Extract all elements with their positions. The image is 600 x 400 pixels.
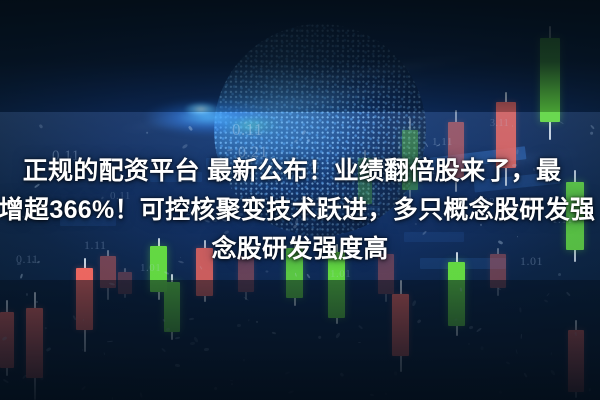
banner-image: 0.110.110.211.113.110.121.111.010.111.01… <box>0 0 600 400</box>
headline-line-3: 念股研发强度高 <box>0 230 600 269</box>
headline-text-block: 正规的配资平台 最新公布！业绩翻倍股来了，最 增超366%！可控核聚变技术跃进，… <box>0 152 600 269</box>
top-dark-overlay-band <box>0 0 600 112</box>
headline-line-1: 正规的配资平台 最新公布！业绩翻倍股来了，最 <box>0 152 600 191</box>
bottom-dark-overlay-band <box>0 280 600 400</box>
headline-line-2: 增超366%！可控核聚变技术跃进，多只概念股研发强 <box>0 191 600 230</box>
